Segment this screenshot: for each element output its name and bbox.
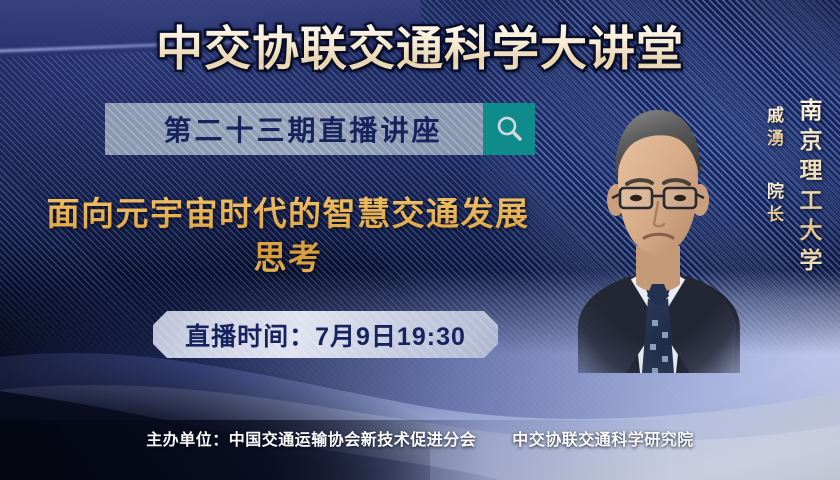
search-icon-box[interactable] bbox=[483, 103, 535, 155]
broadcast-time-pill: 直播时间：7月9日19:30 bbox=[153, 311, 498, 358]
speaker-name: 戚湧 bbox=[761, 106, 786, 152]
session-bar: 第二十三期直播讲座 bbox=[105, 103, 535, 155]
organizer-suffix: 中交协联交通科学研究院 bbox=[512, 432, 694, 449]
session-label: 第二十三期直播讲座 bbox=[105, 109, 483, 149]
lecture-topic: 面向元宇宙时代的智慧交通发展思考 bbox=[38, 192, 538, 280]
speaker-portrait bbox=[568, 88, 748, 373]
speaker-affiliation: 南京理工大学 bbox=[792, 98, 826, 278]
broadcast-time-label: 直播时间：7月9日19:30 bbox=[185, 317, 466, 353]
main-title: 中交协联交通科学大讲堂 bbox=[0, 18, 840, 80]
organizer-footer: 主办单位：中国交通运输协会新技术促进分会 中交协联交通科学研究院 bbox=[0, 426, 840, 450]
organizer-prefix: 主办单位：中国交通运输协会新技术促进分会 bbox=[146, 432, 476, 449]
search-icon bbox=[494, 114, 524, 144]
livestream-poster: 中交协联交通科学大讲堂 中交协联交通科学大讲堂 第二十三期直播讲座 面向元宇宙时… bbox=[0, 0, 840, 480]
speaker-title: 院长 bbox=[761, 182, 786, 228]
